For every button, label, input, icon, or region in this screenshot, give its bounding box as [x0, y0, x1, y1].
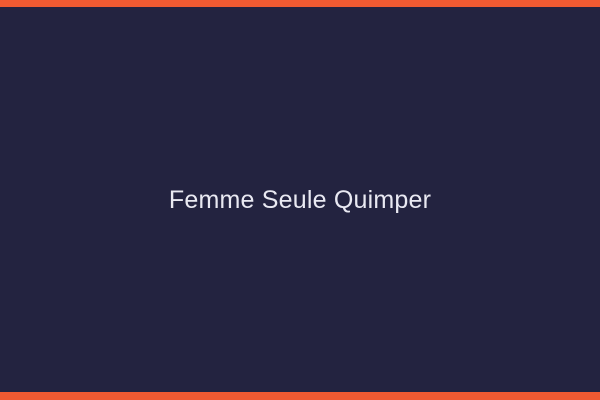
title-container: Femme Seule Quimper	[0, 0, 600, 400]
bottom-accent-bar	[0, 392, 600, 400]
placeholder-card: Femme Seule Quimper	[0, 0, 600, 400]
page-title: Femme Seule Quimper	[169, 185, 431, 215]
